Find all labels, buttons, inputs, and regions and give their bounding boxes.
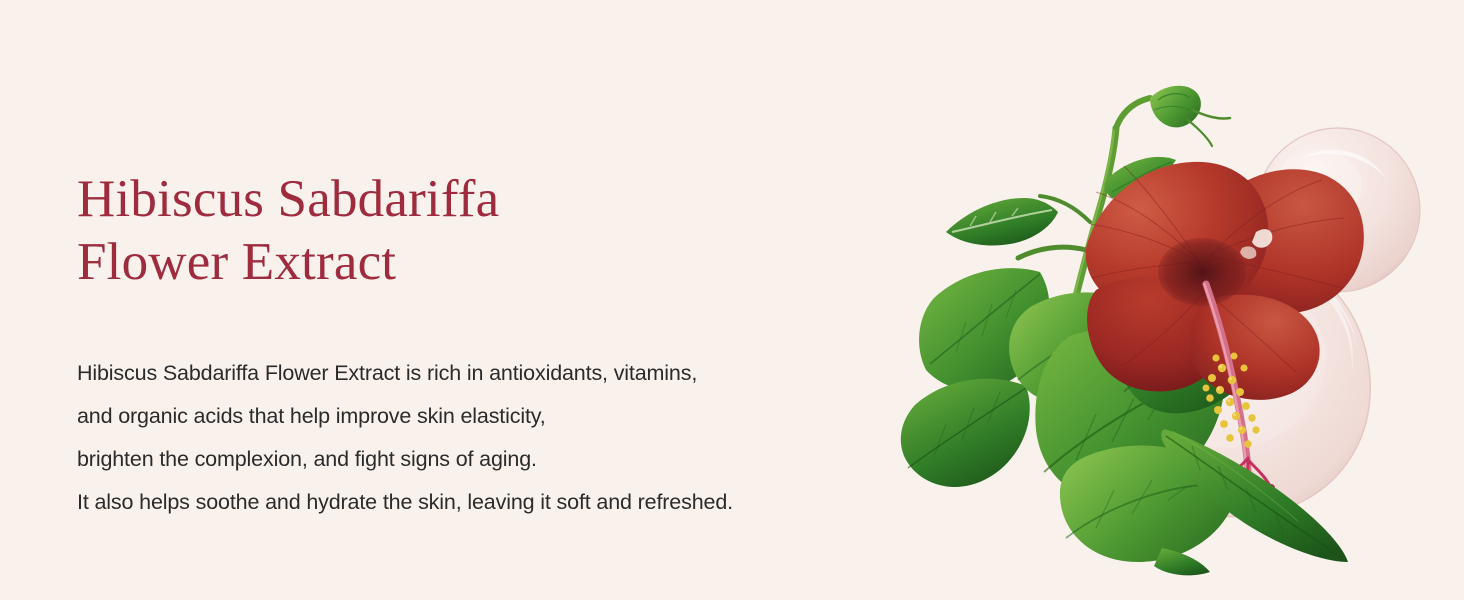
text-column: Hibiscus Sabdariffa Flower Extract Hibis… [77, 0, 967, 600]
ingredient-banner: Hibiscus Sabdariffa Flower Extract Hibis… [0, 0, 1464, 600]
hibiscus-artwork [900, 0, 1464, 600]
page-title: Hibiscus Sabdariffa Flower Extract [77, 168, 937, 294]
hibiscus-illustration [900, 0, 1464, 600]
description-paragraph: Hibiscus Sabdariffa Flower Extract is ri… [77, 352, 977, 524]
flower-bud [1150, 86, 1230, 146]
leaf-speckled-left [946, 198, 1058, 246]
